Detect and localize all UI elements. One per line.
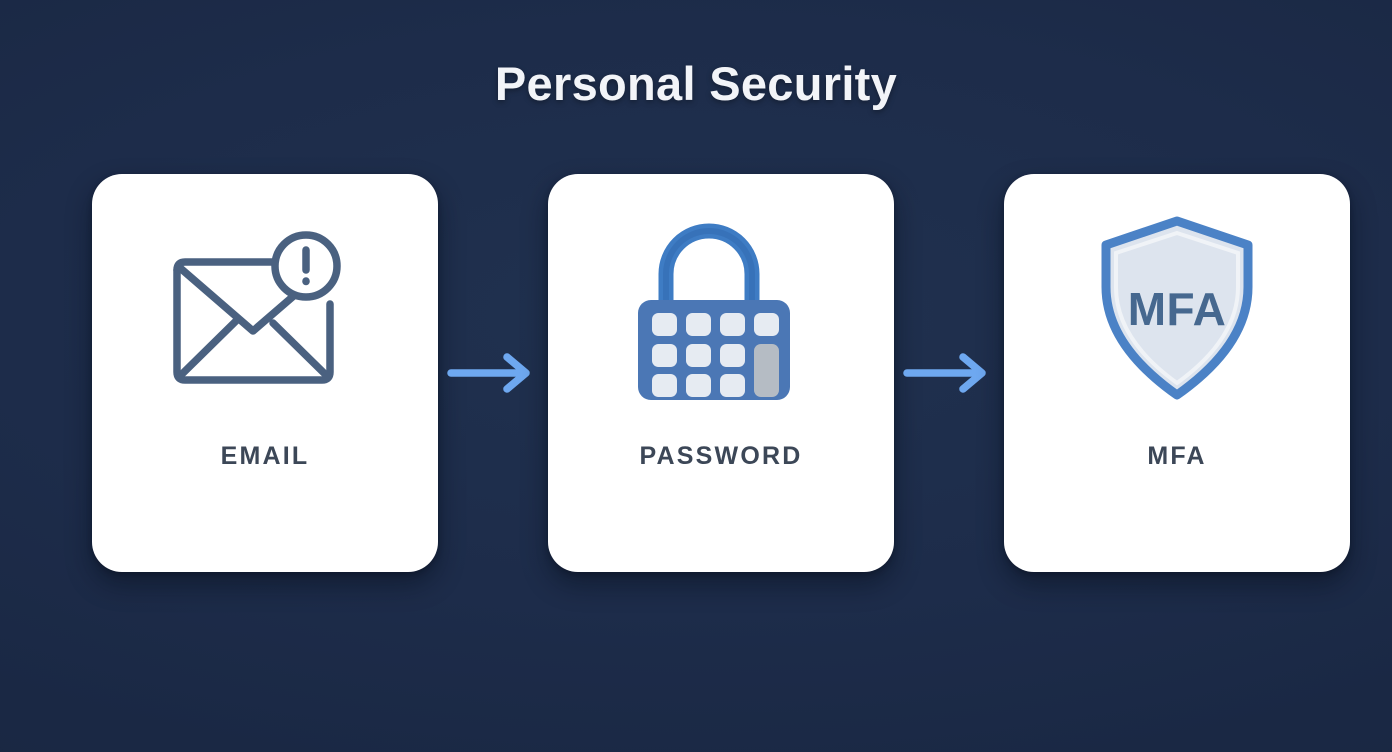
- page-title: Personal Security: [0, 56, 1392, 111]
- step-card-mfa[interactable]: MFA MFA: [1004, 174, 1350, 572]
- security-flow-diagram: EMAIL: [92, 174, 1314, 572]
- shield-mfa-icon: MFA: [1096, 174, 1258, 442]
- step-card-password[interactable]: PASSWORD: [548, 174, 894, 572]
- email-alert-icon: [172, 174, 358, 442]
- flow-connector-2: [894, 174, 1004, 572]
- step-label-password: PASSWORD: [640, 442, 803, 471]
- flow-connector-1: [438, 174, 548, 572]
- shield-label: MFA: [1128, 283, 1227, 335]
- padlock-keypad-icon: [633, 174, 809, 442]
- step-label-mfa: MFA: [1147, 442, 1206, 471]
- step-card-email[interactable]: EMAIL: [92, 174, 438, 572]
- arrow-right-icon: [447, 351, 539, 395]
- arrow-right-icon: [903, 351, 995, 395]
- step-label-email: EMAIL: [221, 442, 310, 471]
